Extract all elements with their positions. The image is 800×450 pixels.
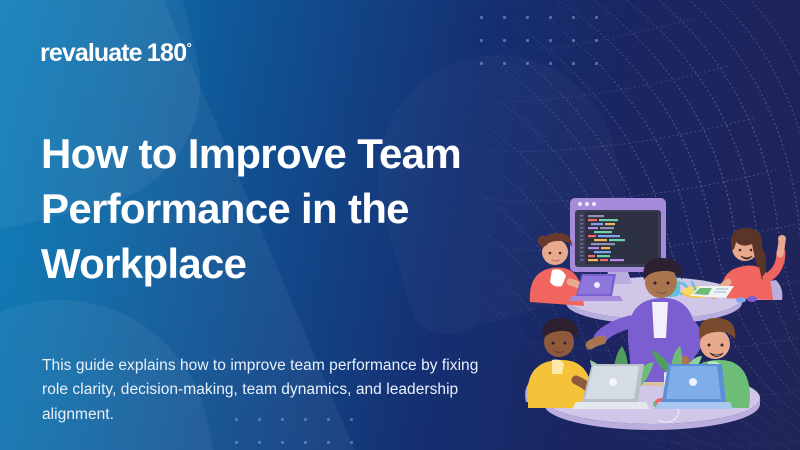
brand-logo[interactable]: revaluate 180 ° <box>40 39 191 68</box>
logo-wordmark: revaluate <box>40 39 142 68</box>
team-collaboration-illustration <box>512 190 800 440</box>
logo-degree-icon: ° <box>187 40 192 55</box>
dot-grid-top-icon <box>470 6 610 76</box>
hero-banner: revaluate 180 ° How to Improve Team Perf… <box>0 0 800 450</box>
person-right-woman <box>690 228 786 303</box>
page-subtitle: This guide explains how to improve team … <box>42 354 507 428</box>
page-title: How to Improve Team Performance in the W… <box>41 126 511 291</box>
logo-number: 180 <box>147 39 187 68</box>
